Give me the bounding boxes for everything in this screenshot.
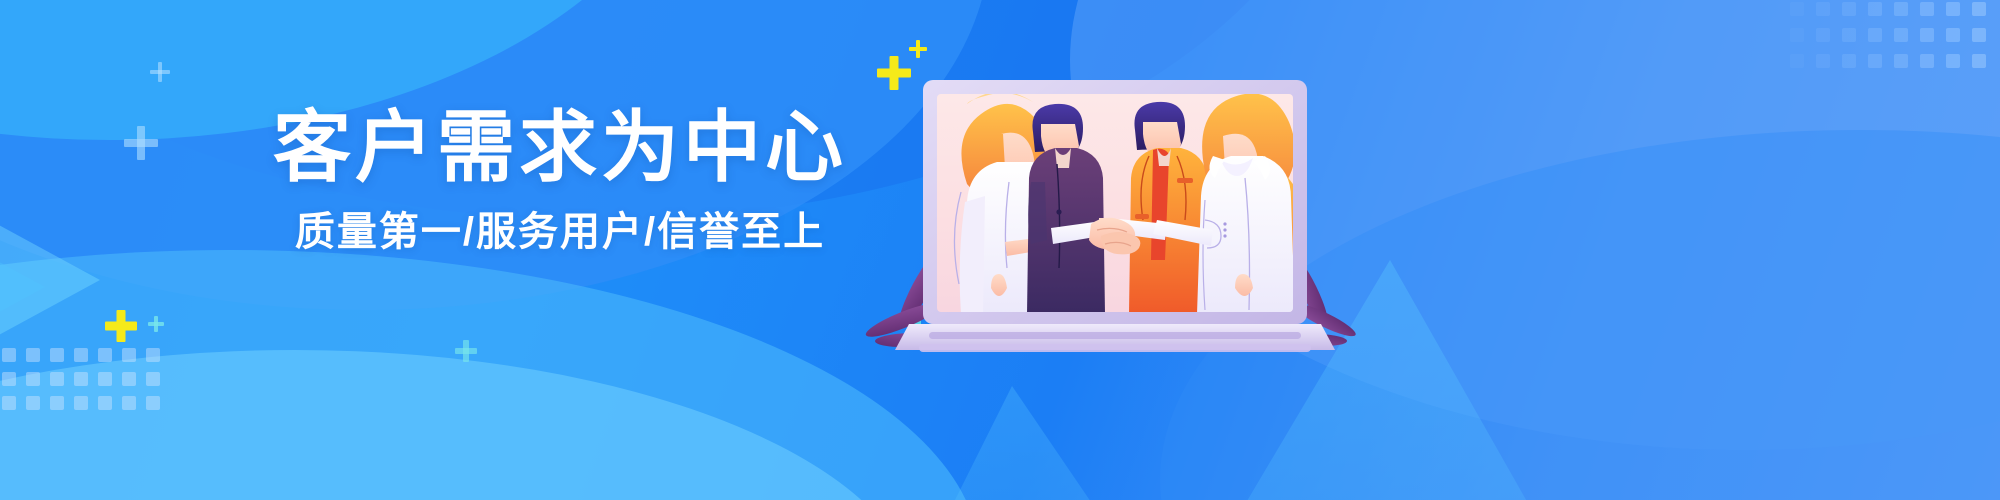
dot-grid-cell [1920,28,1934,42]
dot-grid-cell [2,396,16,410]
dot-grid-cell [1894,28,1908,42]
dot-grid-cell [1972,2,1986,16]
dot-grid-cell [122,372,136,386]
dot-grid-cell [74,396,88,410]
dot-grid-cell [2,372,16,386]
dot-grid-cell [122,396,136,410]
dot-grid-cell [98,396,112,410]
dot-grid-cell [146,396,160,410]
dot-grid-cell [1946,2,1960,16]
dot-grid-cell [26,396,40,410]
dot-grid-cell [1790,54,1804,68]
plus-icon-pale-upper-left [150,62,170,82]
plus-icon-yellow-bottom-left [105,310,137,342]
dot-grid-cell [1790,2,1804,16]
promo-banner: 客户需求为中心 质量第一/服务用户/信誉至上 [0,0,2000,500]
dot-grid-cell [1842,2,1856,16]
dot-grid-cell [1790,28,1804,42]
plus-icon-cyan-bottom-center [455,340,477,362]
laptop-base-keyboard [895,324,1335,352]
background-wave-bottom [0,250,980,500]
dot-grid-cell [1920,54,1934,68]
dot-grid-cell [1972,28,1986,42]
dot-grid-cell [50,348,64,362]
dot-grid-bottom-left [0,342,170,402]
dot-grid-cell [1868,54,1882,68]
dot-grid-cell [1868,2,1882,16]
dot-grid-cell [26,372,40,386]
dot-grid-cell [26,348,40,362]
dot-grid-cell [1894,54,1908,68]
dot-grid-cell [74,348,88,362]
chevron-shape-1 [0,155,100,405]
dot-grid-cell [1842,54,1856,68]
dot-grid-cell [146,372,160,386]
dot-grid-cell [50,396,64,410]
laptop-teamwork-illustration [905,52,1325,352]
dot-grid-cell [1946,28,1960,42]
banner-subtitle: 质量第一/服务用户/信誉至上 [250,212,870,252]
dot-grid-cell [1920,2,1934,16]
dot-grid-top-right [1790,0,2000,70]
dot-grid-cell [1894,2,1908,16]
dot-grid-cell [74,372,88,386]
dot-grid-cell [50,372,64,386]
dot-grid-cell [1972,54,1986,68]
dot-grid-cell [98,372,112,386]
dot-grid-cell [1816,54,1830,68]
dot-grid-cell [1842,28,1856,42]
dot-grid-cell [98,348,112,362]
plus-icon-cyan-bottom-left [148,316,164,332]
dot-grid-cell [1816,2,1830,16]
dot-grid-cell [1946,54,1960,68]
dot-grid-cell [1868,28,1882,42]
dot-grid-cell [2,348,16,362]
dot-grid-cell [146,348,160,362]
plus-icon-pale-left [124,126,158,160]
chevron-shape-2 [0,175,45,399]
page-title: 客户需求为中心 [250,108,870,186]
banner-copy: 客户需求为中心 质量第一/服务用户/信誉至上 [250,108,870,252]
dot-grid-cell [1816,28,1830,42]
dot-grid-cell [122,348,136,362]
background-wave-bottom-light [0,350,920,500]
